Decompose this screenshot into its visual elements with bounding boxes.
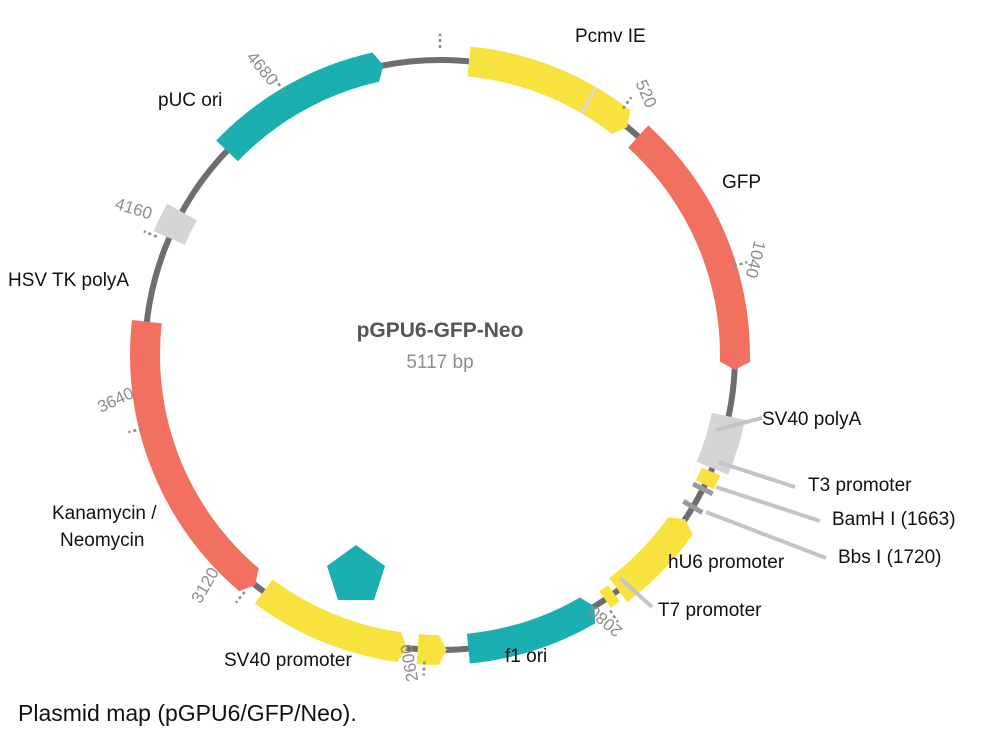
feature-label-kanamycin-neomycin: Kanamycin / bbox=[52, 503, 157, 524]
tick-mark-3120 bbox=[236, 592, 245, 603]
feature-label-sv40-promoter-main: SV40 promoter bbox=[224, 650, 352, 671]
tick-label-1040: 1040 bbox=[742, 239, 770, 280]
tick-mark-520 bbox=[623, 97, 631, 108]
feature-label-sv40-polya: SV40 polyA bbox=[762, 409, 862, 430]
feature-label-gfp: GFP bbox=[722, 172, 761, 193]
feature-label-t7-promoter: T7 promoter bbox=[658, 600, 762, 621]
feature-sv40-polya-arc bbox=[697, 413, 745, 475]
feature-label-t3-promoter: T3 promoter bbox=[808, 475, 912, 496]
feature-label-bbs-i-1720: Bbs I (1720) bbox=[838, 547, 942, 568]
feature-label-hu6-promoter: hU6 promoter bbox=[668, 552, 785, 573]
callout-leader-2 bbox=[718, 462, 795, 487]
feature-sv40-promoter-arc bbox=[417, 634, 447, 665]
plasmid-map-figure: Pcmv IEGFPSV40 polyAT3 promoterBamH I (1… bbox=[0, 0, 982, 744]
feature-pcmv-ie-arc bbox=[467, 46, 630, 133]
feature-label-puc-ori: pUC ori bbox=[158, 90, 222, 111]
plasmid-generated-layer: Pcmv IEGFPSV40 polyAT3 promoterBamH I (1… bbox=[8, 26, 956, 683]
tick-label-3640: 3640 bbox=[95, 383, 137, 416]
tick-mark-4680 bbox=[276, 79, 283, 91]
feature-puc-ori-arc bbox=[216, 52, 383, 161]
plasmid-name-title: pGPU6-GFP-Neo bbox=[357, 319, 524, 342]
tick-label-4160: 4160 bbox=[113, 194, 155, 223]
feature-label-kanamycin-neomycin-line2: Neomycin bbox=[60, 530, 144, 551]
feature-marker-pentagon bbox=[327, 545, 385, 600]
feature-gfp-arc bbox=[628, 125, 750, 369]
feature-label-hsv-tk-polya: HSV TK polyA bbox=[8, 270, 129, 291]
plasmid-length-label: 5117 bp bbox=[406, 352, 473, 373]
tick-mark-4160 bbox=[144, 231, 157, 236]
feature-kanamycin-neomycin-arc bbox=[130, 320, 259, 591]
feature-label-f1-ori: f1 ori bbox=[505, 646, 547, 667]
callout-leader-3 bbox=[716, 487, 820, 521]
plasmid-map-canvas: Pcmv IEGFPSV40 polyAT3 promoterBamH I (1… bbox=[0, 0, 982, 744]
feature-label-bamh-i-1663: BamH I (1663) bbox=[832, 509, 956, 530]
tick-mark-2600 bbox=[424, 662, 425, 676]
figure-caption: Plasmid map (pGPU6/GFP/Neo). bbox=[18, 700, 357, 727]
tick-label-4680: 4680 bbox=[243, 48, 282, 89]
feature-label-pcmv-ie: Pcmv IE bbox=[575, 26, 646, 47]
feature-hsv-tk-polya-arc bbox=[154, 204, 197, 245]
tick-label-520: 520 bbox=[632, 77, 661, 111]
